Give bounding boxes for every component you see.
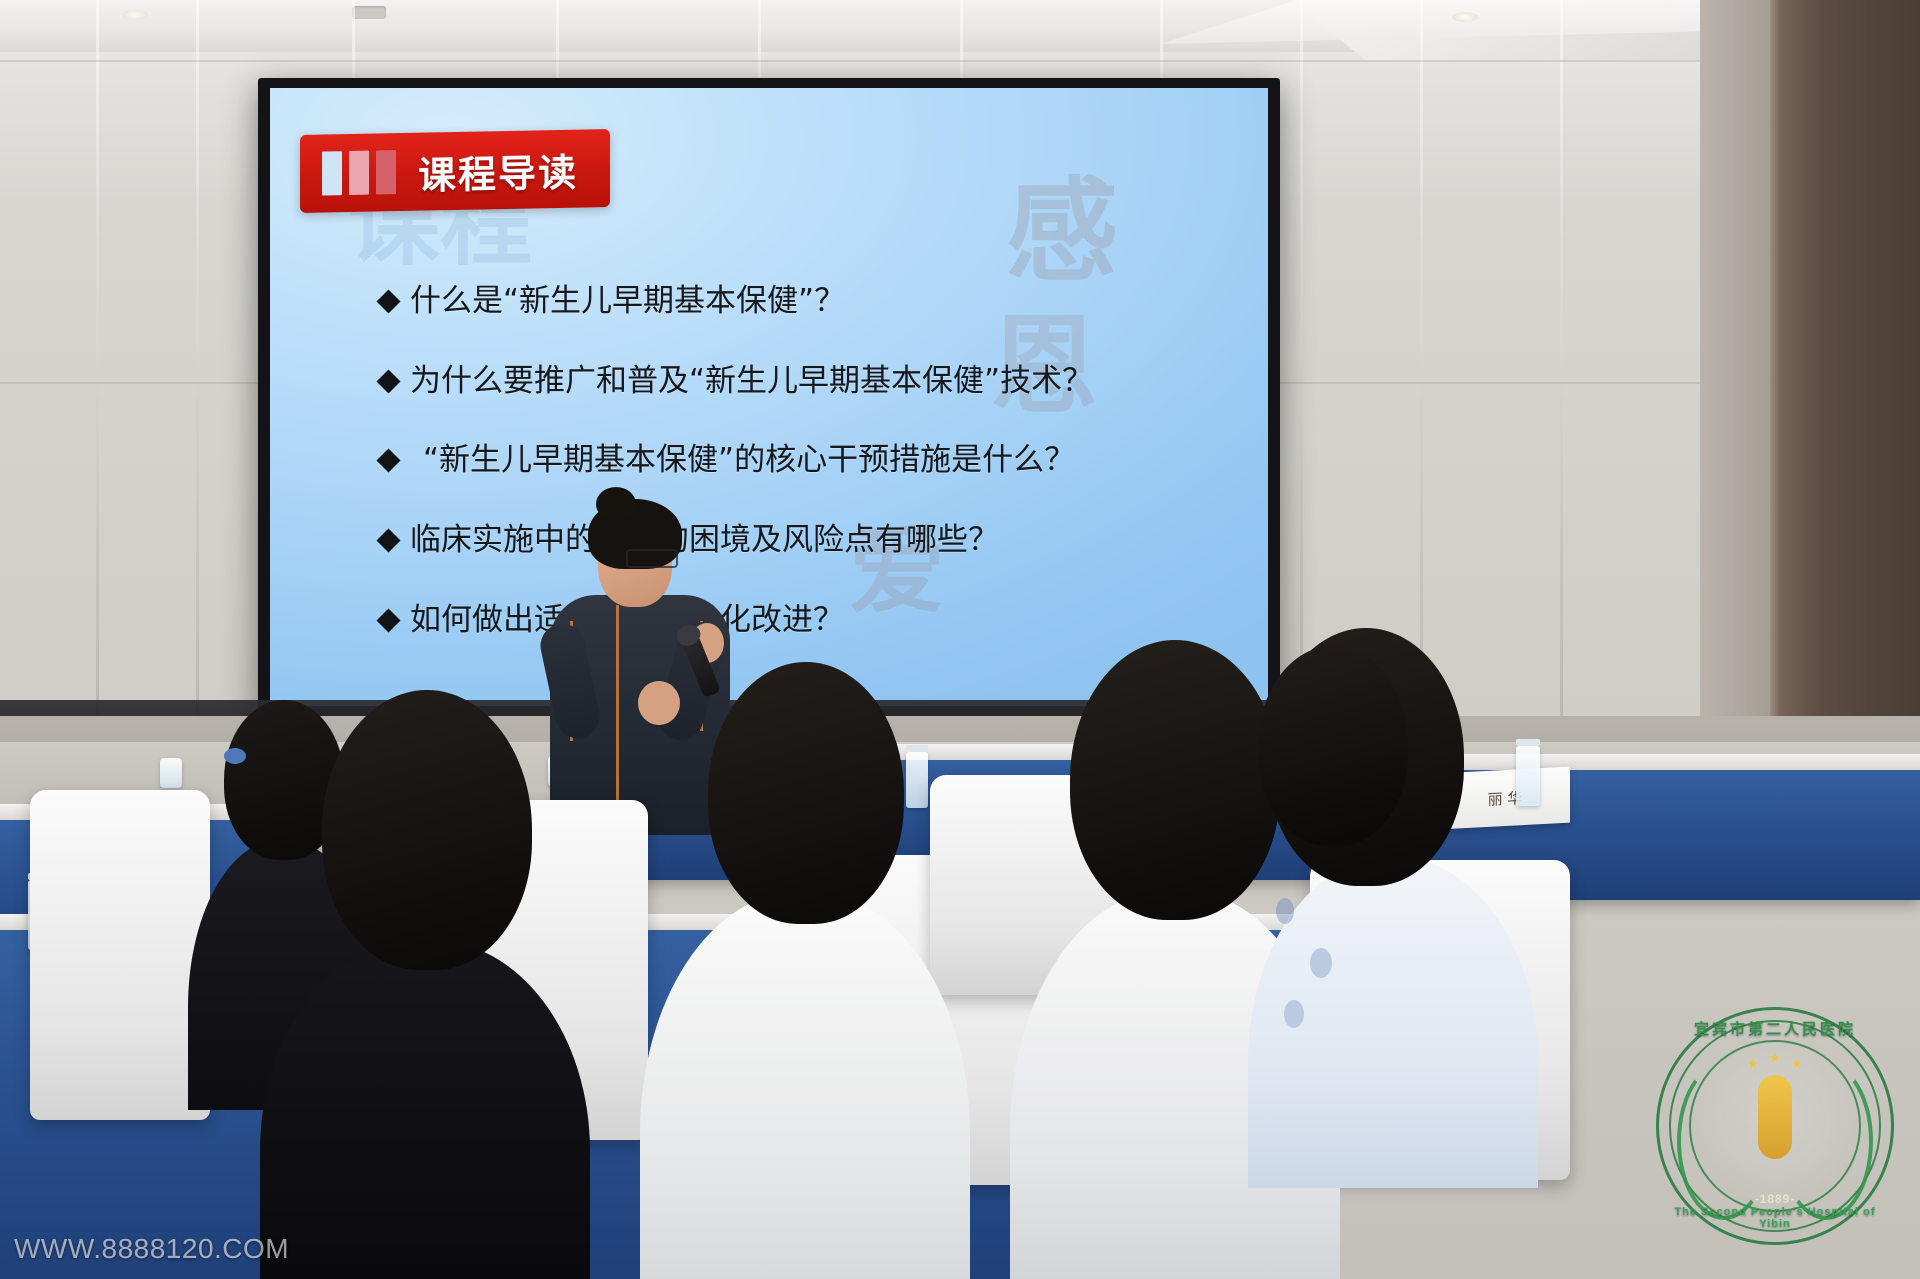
banner-bars-icon: [322, 150, 396, 195]
eyeglasses: [626, 549, 678, 568]
slide-ghost-watermark: 感: [1006, 182, 1118, 283]
logo-name-cn: 宜宾市第二人民医院: [1659, 1018, 1891, 1039]
star-icon: ★: [1791, 1056, 1803, 1072]
blouse-floral-pattern: [1284, 1000, 1304, 1028]
blouse-floral-pattern: [1310, 948, 1332, 978]
slide-bullet-text: “新生儿早期基本保健”的核心干预措施是什么？: [423, 443, 1075, 479]
star-icon: ★: [1769, 1050, 1781, 1066]
diamond-bullet-icon: [376, 528, 400, 552]
slide-bullet-item: 什么是“新生儿早期基本保健”？: [380, 284, 1228, 320]
ceiling-vent: [352, 6, 386, 19]
audience-chair: [30, 790, 210, 1120]
wall-panel-seam: [96, 0, 99, 780]
shirt-placket: [616, 605, 619, 820]
diamond-bullet-icon: [376, 449, 400, 473]
audience-shoulders: [640, 892, 970, 1279]
logo-name-en: The Second People's Hospital of Yibin: [1659, 1206, 1891, 1230]
slide-title: 课程导读: [418, 141, 578, 199]
audience-head: [1258, 646, 1408, 846]
rod-of-asclepius-icon: [1758, 1075, 1792, 1159]
star-icon: ★: [1747, 1056, 1759, 1072]
slide-bullet-item: 如何做出适应现状的优化改进？: [380, 603, 1228, 639]
slide-title-banner: 课程导读: [300, 129, 610, 213]
photo-scene: 课程 感 恩 爱 课程导读 什么是“新生儿早期基本保健”？ 为什么要推广和普及“…: [0, 0, 1920, 1279]
projected-slide: 课程 感 恩 爱 课程导读 什么是“新生儿早期基本保健”？ 为什么要推广和普及“…: [270, 88, 1268, 706]
wall-door-panel: [1700, 0, 1770, 800]
audience-member: [1248, 630, 1418, 910]
diamond-bullet-icon: [376, 608, 400, 632]
speaker-hair-bun: [596, 487, 636, 521]
audience-head: [708, 662, 904, 924]
site-watermark: WWW.8888120.COM: [14, 1233, 289, 1265]
hair-clip: [224, 748, 246, 764]
slide-bullet-list: 什么是“新生儿早期基本保健”？ 为什么要推广和普及“新生儿早期基本保健”技术？ …: [380, 284, 1228, 682]
audience-shoulders: [260, 940, 590, 1279]
wall-horizontal-seam: [0, 60, 1920, 62]
slide-bullet-item: 为什么要推广和普及“新生儿早期基本保健”技术？: [380, 364, 1228, 400]
wood-column-right: [1770, 0, 1920, 800]
wall-panel-seam: [196, 0, 199, 780]
wall-panel-seam: [1560, 0, 1563, 780]
slide-bullet-text: 什么是“新生儿早期基本保健”？: [410, 284, 845, 320]
audience-head: [322, 690, 532, 970]
diamond-bullet-icon: [376, 369, 400, 393]
diamond-bullet-icon: [376, 289, 400, 313]
slide-bullet-item: 临床实施中的面临的困境及风险点有哪些？: [380, 523, 1228, 559]
ceiling-spotlight: [1452, 12, 1478, 22]
slide-bullet-text: 为什么要推广和普及“新生儿早期基本保健”技术？: [410, 364, 1093, 400]
hospital-logo: 宜宾市第二人民医院 ★ ★ ★ -1889- The Second People…: [1656, 1007, 1894, 1245]
ceiling-spotlight: [122, 10, 148, 20]
slide-bullet-item: “新生儿早期基本保健”的核心干预措施是什么？: [380, 443, 1228, 479]
logo-founding-year: -1889-: [1659, 1192, 1891, 1206]
audience-member: [260, 690, 590, 1279]
audience-member: [640, 662, 970, 1279]
projection-screen-frame: 课程 感 恩 爱 课程导读 什么是“新生儿早期基本保健”？ 为什么要推广和普及“…: [258, 78, 1280, 716]
paper-cup: [160, 758, 182, 788]
